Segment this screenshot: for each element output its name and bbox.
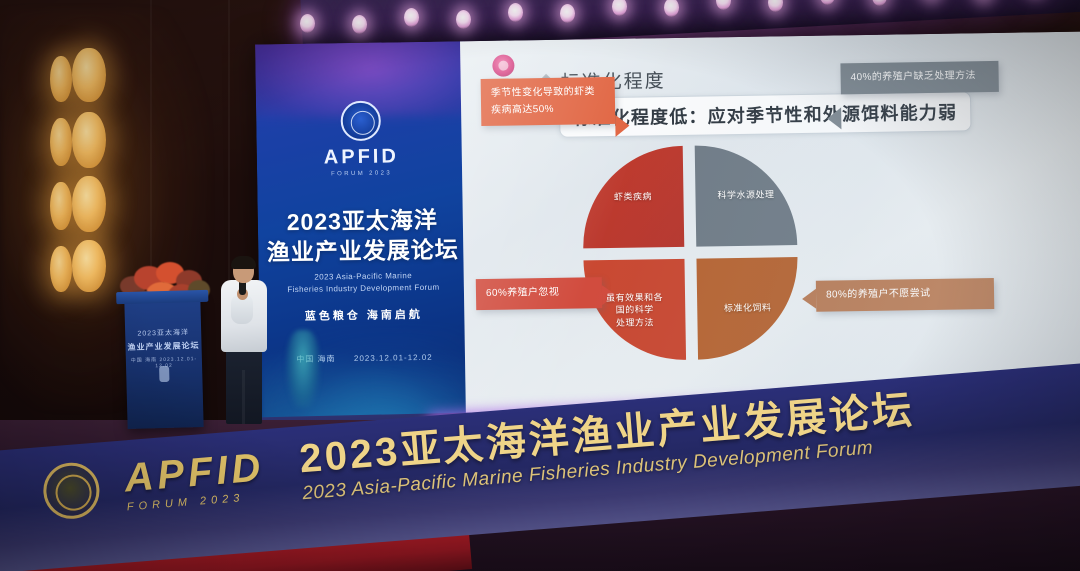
callout-arrow-icon xyxy=(802,289,816,309)
speaker-figure xyxy=(215,258,273,428)
speaker-hair xyxy=(231,256,256,269)
callout-top-left-text: 季节性变化导致的虾类疾病高达50% xyxy=(491,86,595,115)
podium-emblem-icon xyxy=(159,366,169,382)
callout-top-right-text: 40%的养殖户缺乏处理方法 xyxy=(851,70,976,83)
podium-signage: 2023亚太海洋 渔业产业发展论坛 中国 海南 2023.12.01-12.02 xyxy=(125,327,202,370)
flower-logo-icon xyxy=(492,54,514,76)
poster-dates: 2023.12.01-12.02 xyxy=(354,353,433,363)
banner-apfid-wordmark: APFID xyxy=(123,447,266,498)
poster-title-en: 2023 Asia-Pacific Marine Fisheries Indus… xyxy=(259,269,468,297)
quadrant-bottom-right[interactable]: 标准化饲料 xyxy=(696,257,799,360)
poster-slogan: 蓝色粮仓 海南启航 xyxy=(259,305,468,324)
podium-top-surface xyxy=(116,290,208,304)
apfid-logo: APFID FORUM 2023 xyxy=(256,99,466,178)
callout-top-right[interactable]: 40%的养殖户缺乏处理方法 xyxy=(840,61,998,94)
quadrant-diagram: 虾类疾病 科学水源处理 虽有效果和各国的科学处理方法 标准化饲料 xyxy=(582,144,799,361)
callout-bottom-right-text: 80%的养殖户不愿尝试 xyxy=(826,288,931,301)
quadrant-top-left[interactable]: 虾类疾病 xyxy=(582,146,685,249)
slide-title-text: 标准化程度低：应对季节性和外源饵料能力弱 xyxy=(573,99,957,131)
ceiling-lamp-icon xyxy=(456,10,471,29)
lantern-column xyxy=(48,40,120,360)
callout-bottom-left[interactable]: 60%养殖户忽视 xyxy=(476,277,602,309)
projection-screen: APFID FORUM 2023 2023亚太海洋 渔业产业发展论坛 2023 … xyxy=(255,32,1080,427)
callout-bottom-right[interactable]: 80%的养殖户不愿尝试 xyxy=(816,278,994,311)
stage-plant xyxy=(286,330,320,408)
poster-title-cn: 2023亚太海洋 渔业产业发展论坛 xyxy=(258,204,468,268)
poster-title-cn-line1: 2023亚太海洋 xyxy=(258,204,467,238)
callout-arrow-icon xyxy=(827,107,841,129)
quadrant-top-right-label: 科学水源处理 xyxy=(717,189,774,202)
conference-stage-scene: APFID FORUM 2023 2023亚太海洋 渔业产业发展论坛 2023 … xyxy=(0,0,1080,571)
speaker-podium: 2023亚太海洋 渔业产业发展论坛 中国 海南 2023.12.01-12.02 xyxy=(124,299,203,429)
quadrant-bottom-left[interactable]: 虽有效果和各国的科学处理方法 xyxy=(583,259,686,362)
podium-line1: 2023亚太海洋 xyxy=(125,327,201,339)
quadrant-bottom-left-label: 虽有效果和各国的科学处理方法 xyxy=(606,291,664,328)
apfid-seal-icon xyxy=(340,101,381,142)
ceiling-lamp-icon xyxy=(560,4,575,23)
callout-arrow-icon xyxy=(615,115,629,137)
callout-bottom-left-text: 60%养殖户忽视 xyxy=(486,287,559,299)
banner-apfid-logo: APFID FORUM 2023 xyxy=(123,447,267,513)
podium-line2: 渔业产业发展论坛 xyxy=(125,340,201,353)
callout-top-left[interactable]: 季节性变化导致的虾类疾病高达50% xyxy=(481,77,616,126)
presentation-slide: 渤海海洋 标准化程度 标准化程度低：应对季节性和外源饵料能力弱 虾类疾病 科学水… xyxy=(460,32,1080,424)
apfid-forum-sub: FORUM 2023 xyxy=(257,169,466,178)
ceiling-lamp-icon xyxy=(300,14,315,33)
quadrant-bottom-right-label: 标准化饲料 xyxy=(724,302,772,315)
speaker-leg-gap xyxy=(242,370,245,424)
banner-apfid-seal-icon xyxy=(41,460,101,520)
ceiling-lamp-icon xyxy=(508,3,523,22)
poster-title-cn-line2: 渔业产业发展论坛 xyxy=(258,235,467,269)
apfid-wordmark: APFID xyxy=(257,144,466,170)
quadrant-top-left-label: 虾类疾病 xyxy=(614,191,652,204)
poster-title-en-line2: Fisheries Industry Development Forum xyxy=(259,282,468,298)
quadrant-top-right[interactable]: 科学水源处理 xyxy=(695,144,798,247)
